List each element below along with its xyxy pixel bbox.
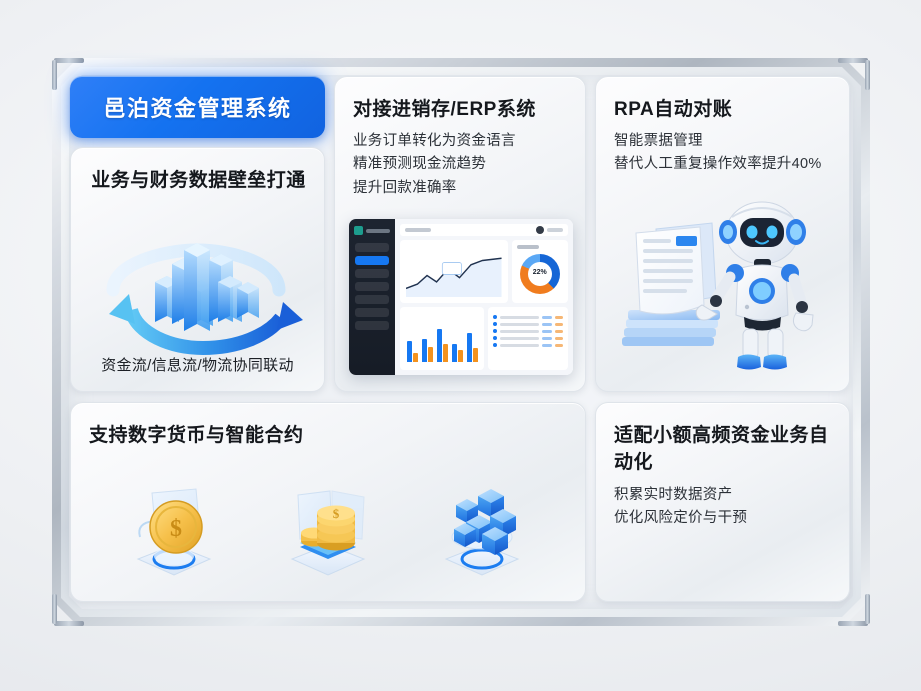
card-rpa-title: RPA自动对账: [614, 94, 833, 121]
dashboard-mockup: 22%: [349, 219, 573, 375]
table-row: [493, 336, 563, 340]
dashboard-sidebar: [349, 219, 395, 375]
dashboard-nav-item[interactable]: [355, 321, 389, 330]
system-title-banner: 邑泊资金管理系统: [70, 76, 325, 138]
card-erp-integration[interactable]: 对接进销存/ERP系统 业务订单转化为资金语言 精准预测现金流趋势 提升回款准确…: [334, 76, 586, 392]
dashboard-nav-item[interactable]: [355, 269, 389, 278]
dashboard-bar-chart: [400, 307, 484, 370]
system-title: 邑泊资金管理系统: [103, 91, 291, 123]
coin-stack-icon: $: [276, 475, 381, 585]
table-row: [493, 315, 563, 319]
feature-board: 邑泊资金管理系统 业务与财务数据壁垒打通: [70, 76, 852, 608]
dashboard-donut-chart: 22%: [512, 240, 568, 303]
dashboard-line-chart: [400, 240, 508, 303]
card-rpa-reconciliation[interactable]: RPA自动对账 智能票据管理 替代人工重复操作效率提升40%: [595, 76, 850, 392]
dashboard-topbar: [400, 224, 568, 236]
card-business-title: 业务与财务数据壁垒打通: [89, 165, 308, 192]
card-erp-line-3: 提升回款准确率: [353, 177, 569, 200]
card-business-finance[interactable]: 业务与财务数据壁垒打通: [70, 147, 325, 392]
card-micro-high-frequency[interactable]: 适配小额高频资金业务自动化 积累实时数据资产 优化风险定价与干预: [595, 402, 850, 602]
dashboard-nav-item[interactable]: [355, 308, 389, 317]
card-micro-line-2: 优化风险定价与干预: [614, 507, 833, 530]
card-erp-line-1: 业务订单转化为资金语言: [353, 130, 569, 153]
donut-value: 22%: [533, 268, 547, 275]
card-business-caption: 资金流/信息流/物流协同联动: [71, 354, 324, 375]
growth-bars-cycle-arrows-icon: [71, 198, 324, 363]
card-rpa-line-2: 替代人工重复操作效率提升40%: [614, 153, 833, 176]
dashboard-avatar: [536, 226, 544, 234]
table-row: [493, 329, 563, 333]
dashboard-nav-item[interactable]: [355, 243, 389, 252]
gold-coin-icon: $: [122, 475, 227, 585]
dashboard-logo-icon: [354, 226, 390, 235]
crypto-icon-strip: $: [71, 467, 585, 585]
card-rpa-line-1: 智能票据管理: [614, 130, 833, 153]
robot-with-documents-icon: [604, 187, 845, 387]
card-micro-line-1: 积累实时数据资产: [614, 484, 833, 507]
left-column: 邑泊资金管理系统 业务与财务数据壁垒打通: [70, 76, 325, 392]
svg-text:$: $: [332, 506, 339, 521]
card-erp-line-2: 精准预测现金流趋势: [353, 153, 569, 176]
blockchain-cubes-icon: [430, 475, 535, 585]
card-crypto-title: 支持数字货币与智能合约: [89, 420, 569, 447]
card-micro-title: 适配小额高频资金业务自动化: [614, 420, 833, 474]
table-row: [493, 343, 563, 347]
dashboard-content: 22%: [395, 219, 573, 375]
card-erp-title: 对接进销存/ERP系统: [353, 94, 569, 121]
dashboard-nav-item-active[interactable]: [355, 256, 389, 265]
dashboard-nav-item[interactable]: [355, 282, 389, 291]
table-row: [493, 322, 563, 326]
dashboard-data-table: [488, 307, 568, 370]
dashboard-nav-item[interactable]: [355, 295, 389, 304]
card-digital-currency[interactable]: 支持数字货币与智能合约: [70, 402, 586, 602]
svg-text:$: $: [170, 516, 182, 542]
